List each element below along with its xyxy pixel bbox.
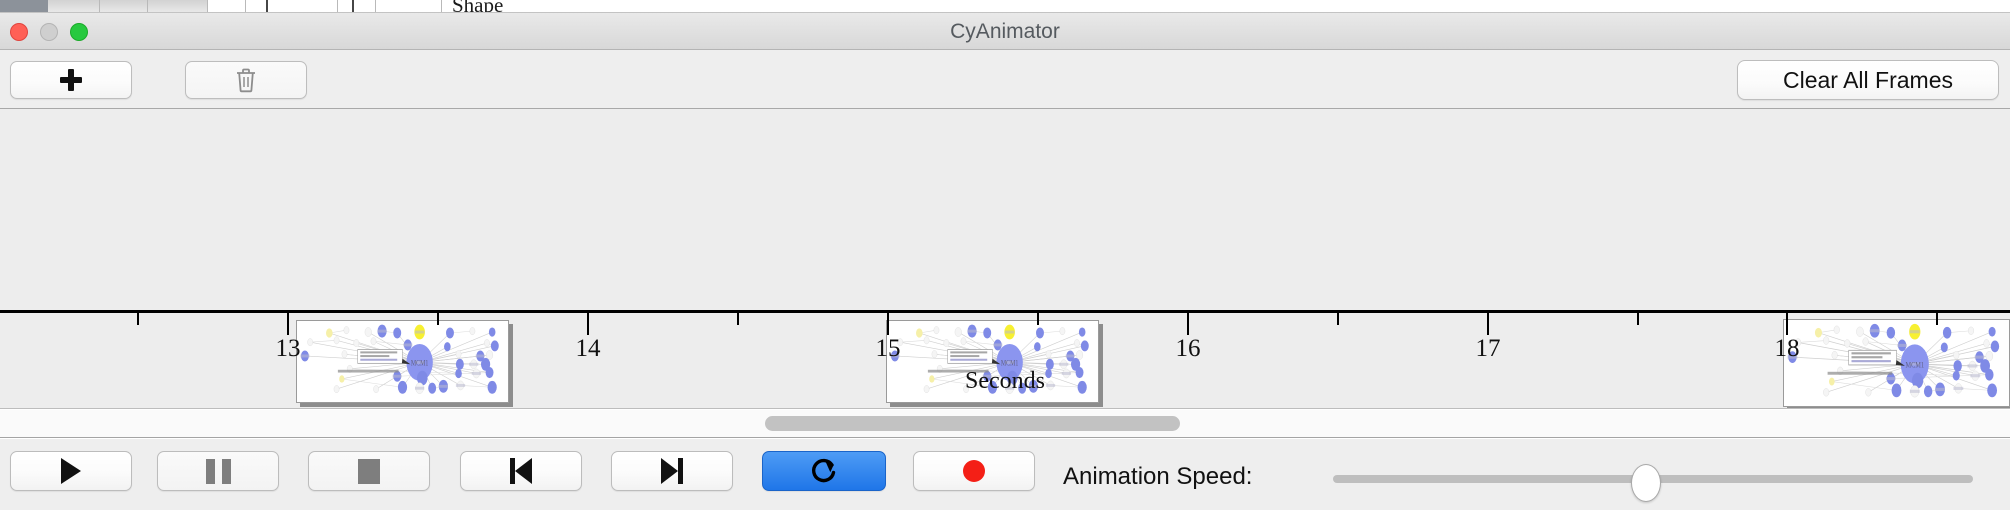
plus-icon <box>60 69 82 91</box>
stop-icon <box>358 459 380 484</box>
tick-label: 17 <box>1476 335 1501 363</box>
animation-speed-slider-thumb[interactable] <box>1631 464 1661 502</box>
record-icon <box>963 460 985 482</box>
loop-icon <box>809 456 839 486</box>
tick-label: 13 <box>276 335 301 363</box>
record-button[interactable] <box>913 451 1035 491</box>
hub-node-label: MCM1 <box>411 359 429 368</box>
tick-label: 18 <box>1775 335 1800 363</box>
tick-minor <box>1337 313 1339 325</box>
add-frame-button[interactable] <box>10 61 132 99</box>
playback-bar: Animation Speed: <box>0 439 2010 510</box>
stop-button[interactable] <box>308 451 430 491</box>
frame-toolbar: Clear All Frames <box>0 50 2010 109</box>
tick-major <box>1487 313 1489 335</box>
delete-frame-button[interactable] <box>185 61 307 99</box>
loop-button[interactable] <box>762 451 886 491</box>
title-bar[interactable]: CyAnimator <box>0 13 2010 50</box>
hub-node-label: MCM1 <box>1001 359 1019 368</box>
next-button[interactable] <box>611 451 733 491</box>
timeline-scrollbar[interactable] <box>0 410 2010 438</box>
tick-label: 16 <box>1176 335 1201 363</box>
previous-button[interactable] <box>460 451 582 491</box>
tick-major <box>1786 313 1788 335</box>
next-icon <box>661 458 683 484</box>
tick-major <box>887 313 889 335</box>
axis-title: Seconds <box>0 368 2010 395</box>
tick-minor <box>1037 313 1039 325</box>
trash-icon <box>234 67 258 93</box>
timeline-panel[interactable]: MCM1MCM1MCM1 2131415161718 Seconds <box>0 109 2010 409</box>
window-title: CyAnimator <box>0 13 2010 50</box>
cyanimator-window: ∣ ∣ Shape CyAnimator Clear All Frames <box>0 0 2010 510</box>
previous-icon <box>510 458 532 484</box>
tick-major <box>587 313 589 335</box>
clear-all-frames-button[interactable]: Clear All Frames <box>1737 60 1999 100</box>
scrollbar-thumb[interactable] <box>765 416 1180 431</box>
tick-minor <box>137 313 139 325</box>
pause-icon <box>206 459 231 484</box>
pause-button[interactable] <box>157 451 279 491</box>
tick-label: 15 <box>876 335 901 363</box>
tick-major <box>287 313 289 335</box>
timeline-axis <box>0 310 2010 313</box>
tick-minor <box>1637 313 1639 325</box>
tick-minor <box>737 313 739 325</box>
tick-minor <box>1936 313 1938 325</box>
animation-speed-label: Animation Speed: <box>1063 463 1252 491</box>
background-window-strip: ∣ ∣ Shape <box>0 0 2010 13</box>
play-button[interactable] <box>10 451 132 491</box>
tick-minor <box>437 313 439 325</box>
tick-major <box>1187 313 1189 335</box>
tick-label: 14 <box>576 335 601 363</box>
play-icon <box>61 458 81 484</box>
